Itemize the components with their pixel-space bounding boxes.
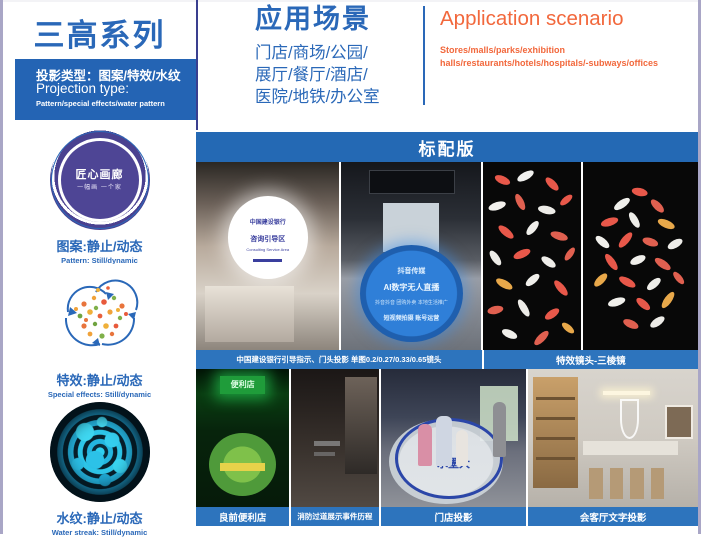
standard-version-band: 标配版 bbox=[196, 132, 698, 162]
floor-logo-text: 水墨大 bbox=[381, 455, 527, 471]
bank-sign-line2: 咨询引导区 bbox=[228, 234, 308, 244]
caption-corridor: 消防过道展示事件历程 bbox=[291, 507, 380, 526]
sidebar: 三高系列 投影类型：图案/特效/水纹 Projection type: Patt… bbox=[3, 2, 196, 532]
photo-cell-convenience-store[interactable]: 便利店 bbox=[196, 369, 291, 507]
counter-desk bbox=[205, 286, 294, 342]
header-cn-title: 应用场景 bbox=[255, 2, 425, 36]
photo-row-bottom: 便利店 水墨大 bbox=[196, 369, 698, 507]
convenience-store-photo: 便利店 bbox=[196, 369, 289, 507]
storefront-floor-logo-photo: 水墨大 bbox=[381, 369, 527, 507]
photo-cell-bank[interactable]: 中国建设银行 咨询引导区 Consulting Service Area bbox=[196, 162, 341, 350]
feature-effects-en: Special effects: Still/dynamic bbox=[3, 390, 196, 399]
disc-line1: 抖音传媒 bbox=[360, 266, 464, 276]
gallery-circle-logo-icon: 匠心画廊 一幅画 一个家 bbox=[50, 130, 150, 230]
disc-line4: 短视频拍摄 账号运营 bbox=[360, 313, 464, 322]
caption-storefront: 门店投影 bbox=[381, 507, 529, 526]
store-sign-label: 便利店 bbox=[220, 376, 265, 394]
bank-guidance-sign-photo: 中国建设银行 咨询引导区 Consulting Service Area bbox=[196, 162, 339, 350]
feature-pattern: 匠心画廊 一幅画 一个家 图案:静止/动态 Pattern: Still/dyn… bbox=[3, 130, 196, 265]
koi-projection-right-photo bbox=[583, 162, 698, 350]
caption-row-top: 中国建设银行引导指示、门头投影 单图0.2/0.27/0.33/0.65镜头 特… bbox=[196, 350, 698, 369]
feature-special-effects: 特效:静止/动态 Special effects: Still/dynamic bbox=[3, 264, 196, 399]
caption-convenience-store: 良前便利店 bbox=[196, 507, 291, 526]
photo-grid: 中国建设银行 咨询引导区 Consulting Service Area 抖音传… bbox=[196, 162, 698, 526]
sidebar-divider bbox=[196, 0, 198, 130]
koi-projection-left-photo bbox=[483, 162, 580, 350]
slide-page: 三高系列 投影类型：图案/特效/水纹 Projection type: Patt… bbox=[0, 0, 701, 534]
photo-cell-corridor[interactable] bbox=[291, 369, 380, 507]
bank-sign-line3: Consulting Service Area bbox=[228, 247, 308, 252]
wooden-shelf bbox=[533, 377, 577, 487]
main-panel: 标配版 中国建设银行 咨询引导区 Consulting Service Area bbox=[196, 132, 698, 532]
feature-water-cn: 水纹:静止/动态 bbox=[3, 508, 196, 527]
projection-type-sub: Pattern/special effects/water pattern bbox=[36, 99, 165, 108]
confetti-effect-icon bbox=[50, 264, 150, 364]
disc-line3: 抖音抖音 团购外卖 本地生活推广 bbox=[360, 299, 464, 306]
feature-water-en: Water streak: Still/dynamic bbox=[3, 528, 196, 537]
caption-row-bottom: 良前便利店 消防过道展示事件历程 门店投影 会客厅文字投影 bbox=[196, 507, 698, 526]
header-english: Application scenario Stores/malls/parks/… bbox=[440, 4, 690, 69]
water-ripple-icon bbox=[50, 402, 150, 502]
photo-cell-reception[interactable] bbox=[528, 369, 698, 507]
caption-koi-prism: 特效镜头-三棱镜 bbox=[484, 350, 698, 369]
bank-sign: 中国建设银行 咨询引导区 Consulting Service Area bbox=[228, 196, 308, 279]
projection-type-en: Projection type: bbox=[36, 81, 129, 96]
left-arrow-icon bbox=[253, 259, 282, 262]
photo-cell-storefront[interactable]: 水墨大 bbox=[381, 369, 529, 507]
feature-pattern-cn: 图案:静止/动态 bbox=[3, 236, 196, 255]
caption-bank-entrance: 中国建设银行引导指示、门头投影 单图0.2/0.27/0.33/0.65镜头 bbox=[196, 350, 484, 369]
floor-disc-projection: 抖音传媒 AI数字无人直播 抖音抖音 团购外卖 本地生活推广 短视频拍摄 账号运… bbox=[360, 245, 464, 343]
caption-reception: 会客厅文字投影 bbox=[528, 507, 698, 526]
photo-cell-entrance[interactable]: 抖音传媒 AI数字无人直播 抖音抖音 团购外卖 本地生活推广 短视频拍摄 账号运… bbox=[341, 162, 483, 350]
feature-water-streak: 水纹:静止/动态 Water streak: Still/dynamic bbox=[3, 402, 196, 537]
entrance-floor-projection-photo: 抖音传媒 AI数字无人直播 抖音抖音 团购外卖 本地生活推广 短视频拍摄 账号运… bbox=[341, 162, 481, 350]
photo-row-top: 中国建设银行 咨询引导区 Consulting Service Area 抖音传… bbox=[196, 162, 698, 350]
disc-line2: AI数字无人直播 bbox=[360, 282, 464, 293]
header-en-sub: Stores/malls/parks/exhibition halls/rest… bbox=[440, 44, 690, 69]
header-en-title: Application scenario bbox=[440, 4, 690, 34]
fire-safety-corridor-photo bbox=[291, 369, 378, 507]
reception-room-text-projection-photo bbox=[528, 369, 698, 507]
header-chinese: 应用场景 门店/商场/公园/展厅/餐厅/酒店/医院/地铁/办公室 bbox=[255, 2, 425, 108]
photo-cell-koi-left[interactable] bbox=[483, 162, 582, 350]
header-cn-lines: 门店/商场/公园/展厅/餐厅/酒店/医院/地铁/办公室 bbox=[255, 42, 425, 108]
bank-sign-line1: 中国建设银行 bbox=[228, 217, 308, 226]
photo-cell-koi-right[interactable] bbox=[583, 162, 698, 350]
feature-effects-cn: 特效:静止/动态 bbox=[3, 370, 196, 389]
series-title: 三高系列 bbox=[3, 6, 196, 58]
